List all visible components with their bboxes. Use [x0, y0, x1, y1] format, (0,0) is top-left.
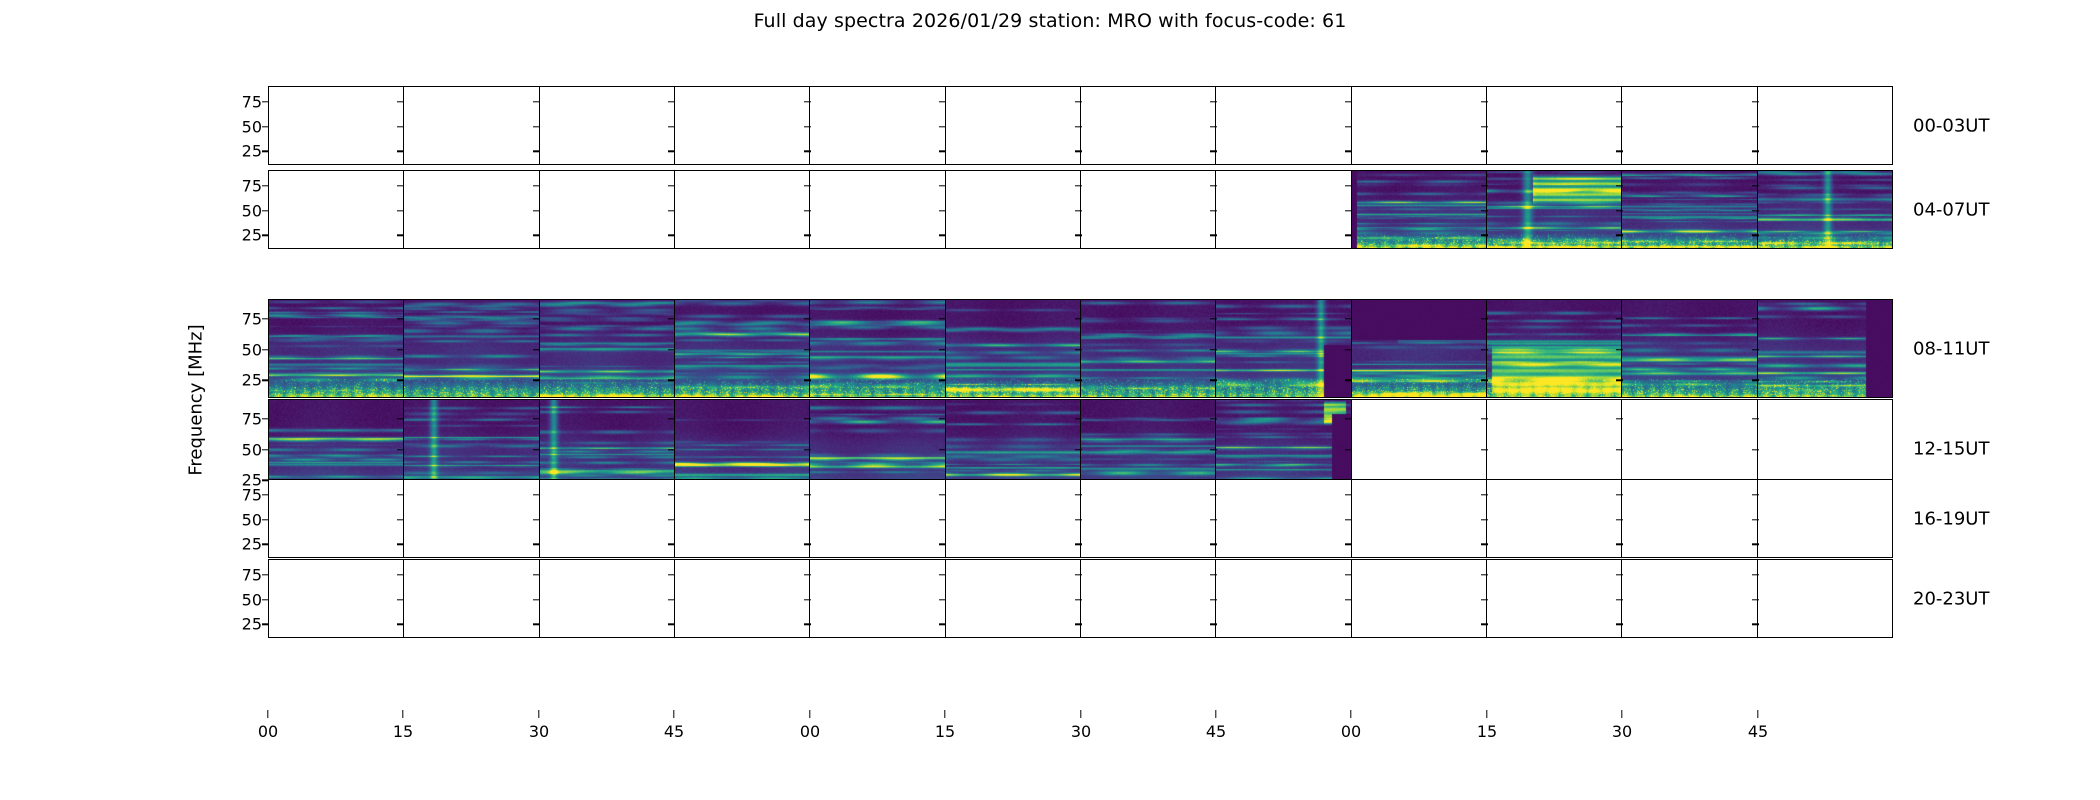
y-tick-mark-interior	[668, 543, 675, 544]
y-tick-mark-interior	[1075, 318, 1082, 319]
spectrogram-image	[1622, 171, 1757, 248]
spectrogram-panel	[946, 171, 1081, 248]
y-tick-mark-interior	[1481, 519, 1488, 520]
y-tick-mark-interior	[1752, 101, 1759, 102]
y-tick-mark-interior	[1345, 349, 1352, 350]
spectrogram-panel	[1622, 560, 1757, 637]
y-tick-mark-interior	[1752, 543, 1759, 544]
y-tick-label: 25	[242, 371, 262, 390]
spectrogram-row: 255075	[268, 299, 1893, 398]
y-tick-mark-interior	[1075, 150, 1082, 151]
y-tick-mark	[262, 494, 269, 495]
y-tick-mark-interior	[1481, 623, 1488, 624]
y-tick-mark-interior	[1075, 126, 1082, 127]
spectrogram-panel	[540, 300, 675, 397]
y-tick-mark-interior	[533, 150, 540, 151]
y-tick-mark-interior	[1210, 519, 1217, 520]
y-tick-label: 50	[242, 201, 262, 220]
y-tick-mark-interior	[939, 185, 946, 186]
spectrogram-panel	[1622, 171, 1757, 248]
spectrogram-panel	[1758, 300, 1892, 397]
y-tick-mark-interior	[804, 449, 811, 450]
y-tick-mark-interior	[397, 519, 404, 520]
y-tick-mark-interior	[668, 494, 675, 495]
spectrogram-image	[675, 300, 810, 397]
y-tick-mark-interior	[1210, 494, 1217, 495]
y-tick-mark-interior	[668, 101, 675, 102]
spectrogram-panel	[675, 480, 810, 557]
y-axis-label: Frequency [MHz]	[186, 324, 207, 475]
x-tick-label: 45	[664, 722, 684, 741]
spectrogram-image	[1758, 171, 1892, 248]
y-tick-mark-interior	[668, 210, 675, 211]
y-tick-mark-interior	[939, 150, 946, 151]
y-tick-mark-interior	[1075, 449, 1082, 450]
spectrogram-panel	[1216, 171, 1351, 248]
y-tick-mark-interior	[1616, 574, 1623, 575]
spectrogram-panel	[1352, 560, 1487, 637]
x-tick-mark	[1621, 710, 1622, 718]
spectrogram-panel	[1216, 480, 1351, 557]
spectrogram-panel	[1487, 300, 1622, 397]
y-tick-mark-interior	[1345, 494, 1352, 495]
row-label-16-19ut: 16-19UT	[1913, 508, 1989, 529]
spectrogram-panel	[404, 560, 539, 637]
y-tick-mark-interior	[1752, 623, 1759, 624]
y-tick-mark-interior	[939, 519, 946, 520]
spectrogram-panel	[1487, 560, 1622, 637]
y-tick-mark-interior	[533, 185, 540, 186]
y-tick-label: 75	[242, 565, 262, 584]
spectrogram-image	[404, 300, 539, 397]
y-tick-mark-interior	[1210, 574, 1217, 575]
y-tick-mark-interior	[1752, 494, 1759, 495]
spectrogram-panel	[404, 87, 539, 164]
spectrogram-panel	[1352, 300, 1487, 397]
y-tick-mark-interior	[397, 543, 404, 544]
y-tick-mark	[262, 234, 269, 235]
y-tick-mark-interior	[804, 318, 811, 319]
y-tick-mark-interior	[1752, 185, 1759, 186]
y-tick-mark-interior	[1345, 318, 1352, 319]
spectrogram-panel	[675, 171, 810, 248]
y-tick-mark-interior	[1616, 494, 1623, 495]
spectrogram-panel	[540, 171, 675, 248]
y-tick-mark-interior	[533, 449, 540, 450]
y-tick-mark-interior	[1075, 494, 1082, 495]
x-tick-label: 00	[800, 722, 820, 741]
spectrogram-row: 255075	[268, 479, 1893, 558]
y-tick-mark-interior	[1210, 449, 1217, 450]
y-tick-mark-interior	[1616, 380, 1623, 381]
y-tick-mark-interior	[668, 574, 675, 575]
y-tick-mark-interior	[533, 210, 540, 211]
spectrogram-panel	[1081, 171, 1216, 248]
y-tick-mark-interior	[1075, 101, 1082, 102]
y-tick-mark-interior	[533, 519, 540, 520]
y-tick-mark-interior	[1616, 126, 1623, 127]
spectrogram-image	[1352, 300, 1487, 397]
y-tick-mark-interior	[1481, 380, 1488, 381]
spectrogram-image	[540, 300, 675, 397]
y-tick-mark-interior	[1752, 519, 1759, 520]
y-tick-mark-interior	[1345, 380, 1352, 381]
spectrogram-panel	[269, 560, 404, 637]
y-tick-mark-interior	[1075, 543, 1082, 544]
y-tick-mark-interior	[1616, 599, 1623, 600]
y-tick-mark-interior	[1481, 234, 1488, 235]
x-tick-mark	[1080, 710, 1081, 718]
y-tick-mark-interior	[1481, 494, 1488, 495]
y-tick-mark-interior	[939, 494, 946, 495]
y-tick-mark-interior	[533, 574, 540, 575]
x-tick-mark	[944, 710, 945, 718]
x-tick-label: 45	[1748, 722, 1768, 741]
spectrogram-panel	[269, 300, 404, 397]
y-tick-mark-interior	[668, 349, 675, 350]
y-tick-mark-interior	[1345, 574, 1352, 575]
spectrogram-panel	[946, 480, 1081, 557]
spectrogram-panel	[1081, 480, 1216, 557]
y-tick-mark-interior	[1481, 543, 1488, 544]
spectrogram-panel	[269, 171, 404, 248]
y-tick-label: 25	[242, 226, 262, 245]
y-tick-mark-interior	[1075, 380, 1082, 381]
y-tick-mark-interior	[1616, 210, 1623, 211]
y-tick-label: 25	[242, 535, 262, 554]
spectrogram-image	[1081, 300, 1216, 397]
y-tick-mark-interior	[804, 599, 811, 600]
spectrogram-image	[1758, 300, 1892, 397]
spectrogram-panel	[946, 300, 1081, 397]
y-tick-mark-interior	[1345, 599, 1352, 600]
y-tick-label: 50	[242, 510, 262, 529]
figure-title: Full day spectra 2026/01/29 station: MRO…	[0, 10, 2100, 32]
y-tick-mark-interior	[533, 349, 540, 350]
row-label-00-03ut: 00-03UT	[1913, 115, 1989, 136]
y-tick-mark-interior	[1752, 449, 1759, 450]
row-label-04-07ut: 04-07UT	[1913, 199, 1989, 220]
y-tick-mark-interior	[1752, 418, 1759, 419]
y-tick-mark-interior	[1345, 519, 1352, 520]
y-tick-mark-interior	[668, 380, 675, 381]
y-tick-mark	[262, 519, 269, 520]
y-tick-mark-interior	[1616, 519, 1623, 520]
y-tick-mark-interior	[1210, 150, 1217, 151]
y-tick-mark-interior	[533, 543, 540, 544]
y-tick-mark-interior	[1210, 543, 1217, 544]
y-tick-mark-interior	[939, 349, 946, 350]
spectrogram-panel	[1081, 87, 1216, 164]
x-tick-mark	[402, 710, 403, 718]
y-tick-mark-interior	[668, 519, 675, 520]
spectrogram-panel	[810, 480, 945, 557]
spectrogram-row: 255075	[268, 170, 1893, 249]
y-tick-mark-interior	[668, 418, 675, 419]
spectrogram-row: 255075	[268, 86, 1893, 165]
y-tick-mark-interior	[1481, 210, 1488, 211]
x-tick-mark	[267, 710, 268, 718]
spectrogram-panel	[540, 480, 675, 557]
y-tick-mark-interior	[804, 418, 811, 419]
y-tick-mark-interior	[533, 126, 540, 127]
y-tick-mark-interior	[533, 623, 540, 624]
y-tick-mark-interior	[668, 234, 675, 235]
y-tick-mark-interior	[1345, 126, 1352, 127]
y-tick-mark-interior	[397, 449, 404, 450]
y-tick-label: 75	[242, 176, 262, 195]
y-tick-mark-interior	[804, 494, 811, 495]
y-tick-label: 50	[242, 340, 262, 359]
y-tick-mark-interior	[804, 623, 811, 624]
y-tick-mark-interior	[1345, 101, 1352, 102]
y-tick-mark-interior	[804, 380, 811, 381]
y-tick-mark-interior	[1616, 349, 1623, 350]
y-tick-label: 50	[242, 440, 262, 459]
y-tick-mark-interior	[533, 318, 540, 319]
y-tick-mark-interior	[1752, 349, 1759, 350]
spectrogram-panel	[404, 480, 539, 557]
y-tick-mark-interior	[804, 574, 811, 575]
y-tick-mark-interior	[939, 234, 946, 235]
spectrogram-panel	[1216, 300, 1351, 397]
spectrogram-image	[1622, 300, 1757, 397]
x-tick-label: 00	[1341, 722, 1361, 741]
y-tick-mark-interior	[1210, 185, 1217, 186]
y-tick-label: 75	[242, 309, 262, 328]
spectrogram-panel	[269, 87, 404, 164]
spectrogram-panel	[810, 560, 945, 637]
y-tick-mark-interior	[1210, 101, 1217, 102]
y-tick-mark-interior	[668, 318, 675, 319]
y-tick-mark-interior	[533, 234, 540, 235]
y-tick-mark-interior	[804, 101, 811, 102]
y-tick-label: 25	[242, 615, 262, 634]
y-tick-mark-interior	[939, 574, 946, 575]
spectrogram-image	[1487, 171, 1622, 248]
y-tick-mark-interior	[1210, 318, 1217, 319]
x-tick-label: 45	[1206, 722, 1226, 741]
y-tick-mark-interior	[1075, 623, 1082, 624]
y-tick-mark-interior	[1481, 126, 1488, 127]
y-tick-mark-interior	[397, 599, 404, 600]
y-tick-mark-interior	[1345, 234, 1352, 235]
x-tick-label: 15	[393, 722, 413, 741]
x-tick-mark	[809, 710, 810, 718]
y-tick-mark-interior	[1616, 101, 1623, 102]
y-tick-label: 50	[242, 117, 262, 136]
x-tick-mark	[1486, 710, 1487, 718]
spectrogram-panel	[1758, 560, 1892, 637]
y-tick-mark-interior	[1210, 349, 1217, 350]
y-tick-mark-interior	[1616, 150, 1623, 151]
y-tick-mark-interior	[1616, 623, 1623, 624]
y-tick-mark-interior	[1752, 599, 1759, 600]
y-tick-mark-interior	[1345, 418, 1352, 419]
spectrogram-panel	[1081, 560, 1216, 637]
y-tick-mark-interior	[1616, 185, 1623, 186]
row-label-12-15ut: 12-15UT	[1913, 438, 1989, 459]
y-tick-mark-interior	[939, 543, 946, 544]
y-tick-mark-interior	[397, 185, 404, 186]
y-tick-label: 25	[242, 142, 262, 161]
y-tick-mark-interior	[668, 126, 675, 127]
spectrogram-panel	[810, 171, 945, 248]
y-tick-mark-interior	[1481, 418, 1488, 419]
y-tick-mark-interior	[1616, 449, 1623, 450]
y-tick-mark-interior	[1616, 318, 1623, 319]
x-tick-mark	[1215, 710, 1216, 718]
x-tick-label: 30	[529, 722, 549, 741]
spectrogram-panel	[1352, 480, 1487, 557]
y-tick-mark-interior	[1481, 449, 1488, 450]
x-tick-label: 00	[258, 722, 278, 741]
spectrogram-image	[269, 300, 404, 397]
x-tick-mark	[673, 710, 674, 718]
y-tick-label: 75	[242, 92, 262, 111]
spectrogram-panel	[1216, 560, 1351, 637]
y-tick-mark-interior	[939, 101, 946, 102]
y-tick-mark-interior	[1210, 380, 1217, 381]
y-tick-mark-interior	[939, 623, 946, 624]
y-tick-mark-interior	[1075, 210, 1082, 211]
y-tick-mark-interior	[1616, 234, 1623, 235]
y-tick-mark-interior	[1210, 599, 1217, 600]
y-tick-mark	[262, 101, 269, 102]
spectrogram-panel	[1081, 300, 1216, 397]
y-tick-mark-interior	[804, 234, 811, 235]
spectrogram-panel	[1622, 87, 1757, 164]
x-tick-mark	[1350, 710, 1351, 718]
y-tick-mark-interior	[1752, 234, 1759, 235]
y-tick-mark-interior	[397, 494, 404, 495]
y-tick-mark-interior	[397, 210, 404, 211]
spectrogram-panel	[810, 300, 945, 397]
y-tick-mark-interior	[1345, 623, 1352, 624]
y-tick-mark	[262, 150, 269, 151]
y-tick-mark-interior	[939, 318, 946, 319]
spectrogram-panel	[675, 87, 810, 164]
y-tick-mark-interior	[1075, 599, 1082, 600]
y-tick-mark-interior	[804, 126, 811, 127]
y-tick-mark-interior	[668, 449, 675, 450]
y-tick-label: 50	[242, 590, 262, 609]
y-tick-mark-interior	[668, 599, 675, 600]
y-tick-mark-interior	[939, 599, 946, 600]
y-tick-mark-interior	[1075, 418, 1082, 419]
y-tick-mark-interior	[397, 574, 404, 575]
x-tick-mark	[1757, 710, 1758, 718]
y-tick-mark-interior	[939, 380, 946, 381]
y-tick-mark	[262, 380, 269, 381]
spectrogram-panel	[1758, 87, 1892, 164]
spectrogram-panel	[675, 560, 810, 637]
y-tick-mark-interior	[939, 210, 946, 211]
y-tick-mark-interior	[1345, 543, 1352, 544]
y-tick-mark	[262, 185, 269, 186]
y-tick-mark	[262, 449, 269, 450]
row-label-20-23ut: 20-23UT	[1913, 588, 1989, 609]
y-tick-mark-interior	[397, 318, 404, 319]
y-tick-mark	[262, 126, 269, 127]
y-tick-mark-interior	[1481, 349, 1488, 350]
spectrogram-panel	[946, 87, 1081, 164]
spectrogram-panel	[675, 300, 810, 397]
y-tick-label: 75	[242, 409, 262, 428]
spectrogram-panel	[1352, 87, 1487, 164]
x-tick-mark	[538, 710, 539, 718]
figure-canvas: Full day spectra 2026/01/29 station: MRO…	[0, 0, 2100, 800]
y-tick-mark-interior	[1481, 150, 1488, 151]
y-tick-mark-interior	[1752, 574, 1759, 575]
y-tick-mark-interior	[1481, 185, 1488, 186]
y-tick-mark-interior	[1210, 210, 1217, 211]
y-tick-mark-interior	[804, 349, 811, 350]
y-tick-mark-interior	[397, 101, 404, 102]
y-tick-mark-interior	[1210, 234, 1217, 235]
y-tick-mark	[262, 349, 269, 350]
y-tick-mark	[262, 318, 269, 319]
y-tick-mark-interior	[1616, 543, 1623, 544]
y-tick-label: 75	[242, 485, 262, 504]
y-tick-mark	[262, 623, 269, 624]
x-tick-label: 15	[935, 722, 955, 741]
spectrogram-panel	[1487, 480, 1622, 557]
y-tick-mark-interior	[397, 150, 404, 151]
y-tick-mark-interior	[1345, 185, 1352, 186]
spectrogram-panel	[1758, 480, 1892, 557]
spectrogram-panel	[1622, 300, 1757, 397]
y-tick-mark	[262, 599, 269, 600]
spectrogram-panel	[1216, 87, 1351, 164]
y-tick-mark-interior	[1345, 150, 1352, 151]
spectrogram-panel	[269, 480, 404, 557]
y-tick-mark	[262, 210, 269, 211]
y-tick-mark-interior	[1075, 519, 1082, 520]
y-tick-mark-interior	[1075, 185, 1082, 186]
y-tick-mark	[262, 574, 269, 575]
spectrogram-image	[810, 300, 945, 397]
y-tick-mark-interior	[804, 150, 811, 151]
y-tick-mark-interior	[939, 449, 946, 450]
y-tick-mark-interior	[533, 418, 540, 419]
y-tick-mark-interior	[1210, 126, 1217, 127]
y-tick-mark-interior	[1752, 126, 1759, 127]
spectrogram-image	[946, 300, 1081, 397]
y-tick-mark-interior	[1481, 574, 1488, 575]
x-tick-label: 30	[1612, 722, 1632, 741]
y-tick-mark-interior	[1481, 101, 1488, 102]
y-tick-mark-interior	[939, 126, 946, 127]
y-tick-mark	[262, 418, 269, 419]
y-tick-mark-interior	[533, 599, 540, 600]
spectrogram-panel	[1352, 171, 1487, 248]
y-tick-mark-interior	[1752, 150, 1759, 151]
y-tick-mark-interior	[939, 418, 946, 419]
y-tick-mark-interior	[1752, 380, 1759, 381]
y-tick-mark-interior	[1210, 418, 1217, 419]
y-tick-mark-interior	[533, 101, 540, 102]
x-axis: 001530450015304500153045	[268, 710, 1893, 750]
spectrogram-image	[1216, 300, 1351, 397]
y-tick-mark-interior	[1075, 234, 1082, 235]
y-tick-mark-interior	[668, 623, 675, 624]
y-tick-mark	[262, 543, 269, 544]
spectrogram-panel	[404, 171, 539, 248]
y-tick-mark-interior	[397, 349, 404, 350]
spectrogram-panel	[1487, 171, 1622, 248]
spectrogram-row: 255075	[268, 559, 1893, 638]
